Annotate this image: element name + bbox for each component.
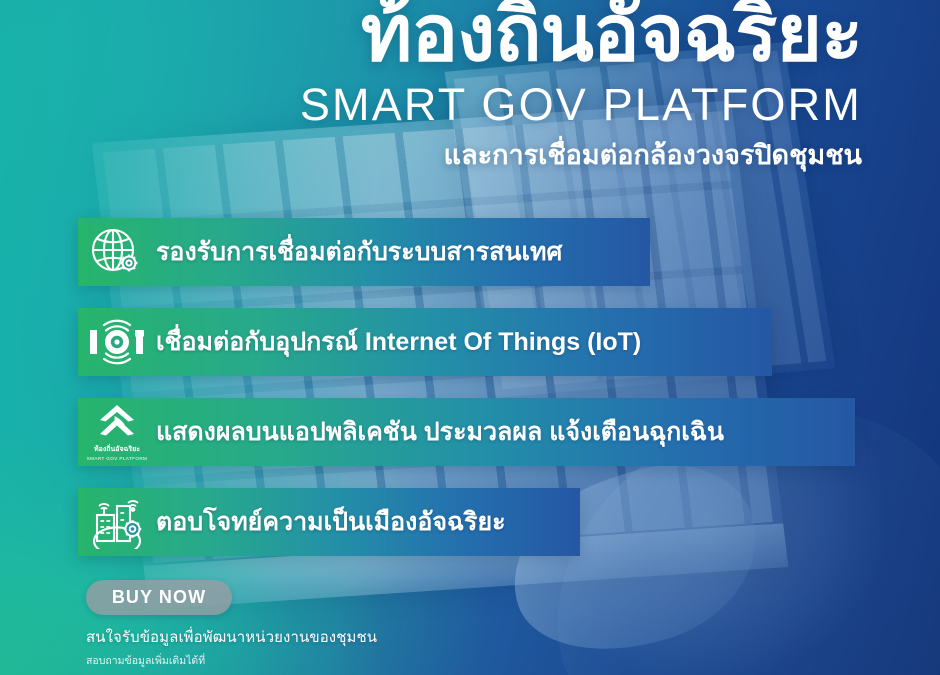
iot-signal-icon <box>78 308 156 376</box>
feature-row-iot[interactable]: เชื่อมต่อกับอุปกรณ์ Internet Of Things (… <box>78 308 772 376</box>
page-subtitle-thai: และการเชื่อมต่อกล้องวงจรปิดชุมชน <box>300 139 862 171</box>
smart-gov-logo-icon: ท้องถิ่นอัจฉริยะ SMART GOV PLATFORM <box>78 398 156 466</box>
feature-row-information-system[interactable]: รองรับการเชื่อมต่อกับระบบสารสนเทศ <box>78 218 650 286</box>
cta-contact-text: สอบถามข้อมูลเพิ่มเติมได้ที่ <box>86 652 377 669</box>
promo-poster: ท้องถิ่นอัจฉริยะ SMART GOV PLATFORM และก… <box>0 0 940 675</box>
buy-now-button[interactable]: BUY NOW <box>86 580 232 615</box>
feature-label: รองรับการเชื่อมต่อกับระบบสารสนเทศ <box>156 239 562 265</box>
feature-list: รองรับการเชื่อมต่อกับระบบสารสนเทศ <box>78 218 855 578</box>
feature-row-application-display[interactable]: ท้องถิ่นอัจฉริยะ SMART GOV PLATFORM แสดง… <box>78 398 855 466</box>
feature-label: ตอบโจทย์ความเป็นเมืองอัจฉริยะ <box>156 509 506 535</box>
headline-block: ท้องถิ่นอัจฉริยะ SMART GOV PLATFORM และก… <box>300 0 862 171</box>
cta-interest-text: สนใจรับข้อมูลเพื่อพัฒนาหน่วยงานของชุมชน <box>86 625 377 649</box>
poster-content: ท้องถิ่นอัจฉริยะ SMART GOV PLATFORM และก… <box>0 0 940 675</box>
feature-label: แสดงผลบนแอปพลิเคชัน ประมวลผล แจ้งเตือนฉุ… <box>156 419 724 445</box>
page-title-english: SMART GOV PLATFORM <box>300 78 862 131</box>
logo-text-english: SMART GOV PLATFORM <box>87 456 148 461</box>
smart-city-icon <box>78 488 156 556</box>
feature-row-smart-city[interactable]: ตอบโจทย์ความเป็นเมืองอัจฉริยะ <box>78 488 580 556</box>
page-title-thai: ท้องถิ่นอัจฉริยะ <box>300 0 862 74</box>
feature-label: เชื่อมต่อกับอุปกรณ์ Internet Of Things (… <box>156 329 641 355</box>
globe-gear-icon <box>78 218 156 286</box>
cta-block: BUY NOW สนใจรับข้อมูลเพื่อพัฒนาหน่วยงานข… <box>86 580 377 675</box>
logo-text-thai: ท้องถิ่นอัจฉริยะ <box>94 444 140 455</box>
